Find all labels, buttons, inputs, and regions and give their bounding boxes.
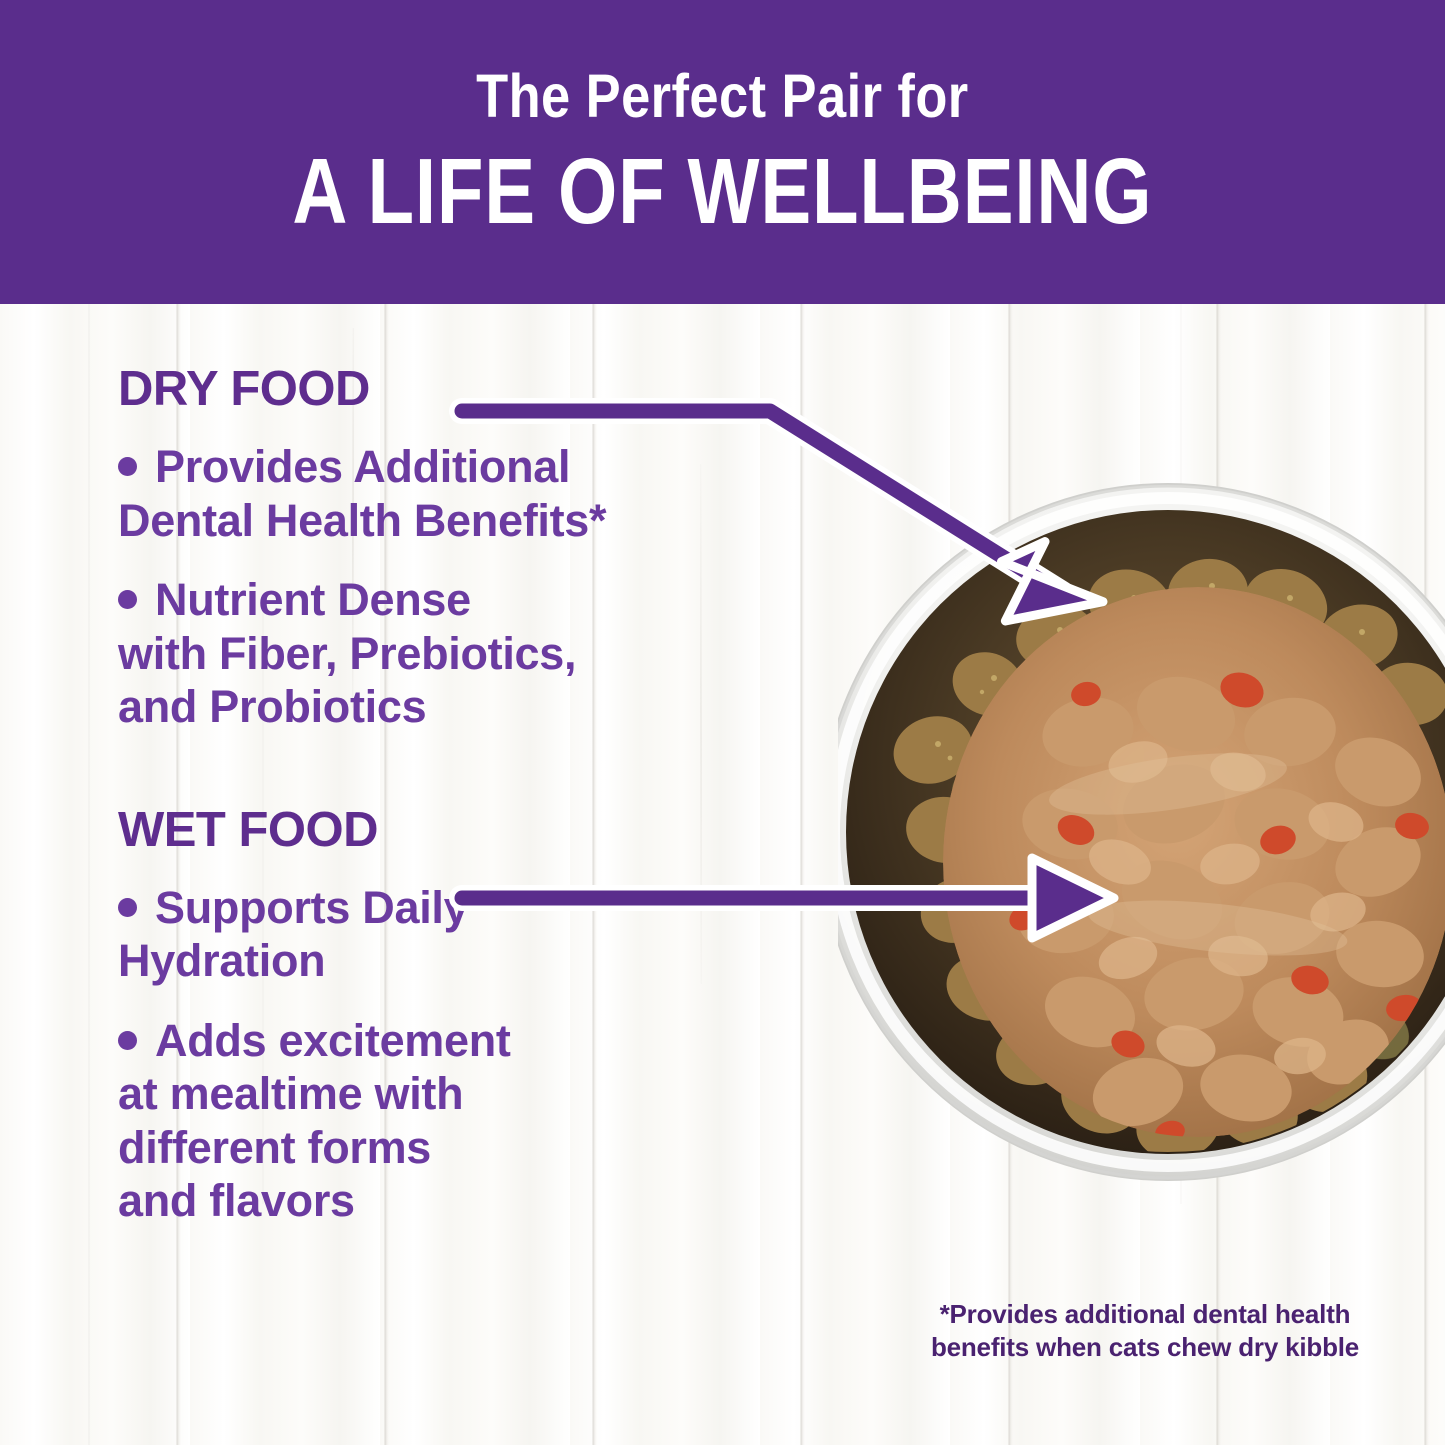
- section-dry-food: DRY FOOD Provides Additional Dental Heal…: [118, 365, 758, 734]
- bullet-list-wet-food: Supports Daily Hydration Adds excitement…: [118, 881, 758, 1228]
- bullet-item: Nutrient Dense with Fiber, Prebiotics, a…: [118, 573, 758, 734]
- section-wet-food: WET FOOD Supports Daily Hydration Adds e…: [118, 806, 758, 1228]
- bullet-text: Adds excitement at mealtime with differe…: [118, 1015, 511, 1227]
- benefits-column: DRY FOOD Provides Additional Dental Heal…: [118, 365, 758, 1254]
- footnote-text: *Provides additional dental health benef…: [930, 1298, 1360, 1365]
- bullet-text: Supports Daily Hydration: [118, 882, 468, 987]
- bullet-item: Provides Additional Dental Health Benefi…: [118, 440, 758, 547]
- bullet-dot-icon: [118, 898, 137, 917]
- bullet-item: Supports Daily Hydration: [118, 881, 758, 988]
- food-bowl-photo: [838, 432, 1445, 1262]
- header-title: A LIFE OF WELLBEING: [292, 145, 1152, 238]
- bullet-text: Provides Additional Dental Health Benefi…: [118, 441, 606, 546]
- bullet-dot-icon: [118, 457, 137, 476]
- section-divider-space: [118, 760, 758, 806]
- bullet-dot-icon: [118, 1031, 137, 1050]
- bullet-text: Nutrient Dense with Fiber, Prebiotics, a…: [118, 574, 576, 732]
- section-title-dry-food: DRY FOOD: [118, 365, 758, 414]
- bullet-list-dry-food: Provides Additional Dental Health Benefi…: [118, 440, 758, 734]
- header-subtitle: The Perfect Pair for: [476, 66, 969, 127]
- bullet-dot-icon: [118, 590, 137, 609]
- promo-infographic: The Perfect Pair for A LIFE OF WELLBEING: [0, 0, 1445, 1445]
- bullet-item: Adds excitement at mealtime with differe…: [118, 1014, 758, 1228]
- section-title-wet-food: WET FOOD: [118, 806, 758, 855]
- header-band: The Perfect Pair for A LIFE OF WELLBEING: [0, 0, 1445, 304]
